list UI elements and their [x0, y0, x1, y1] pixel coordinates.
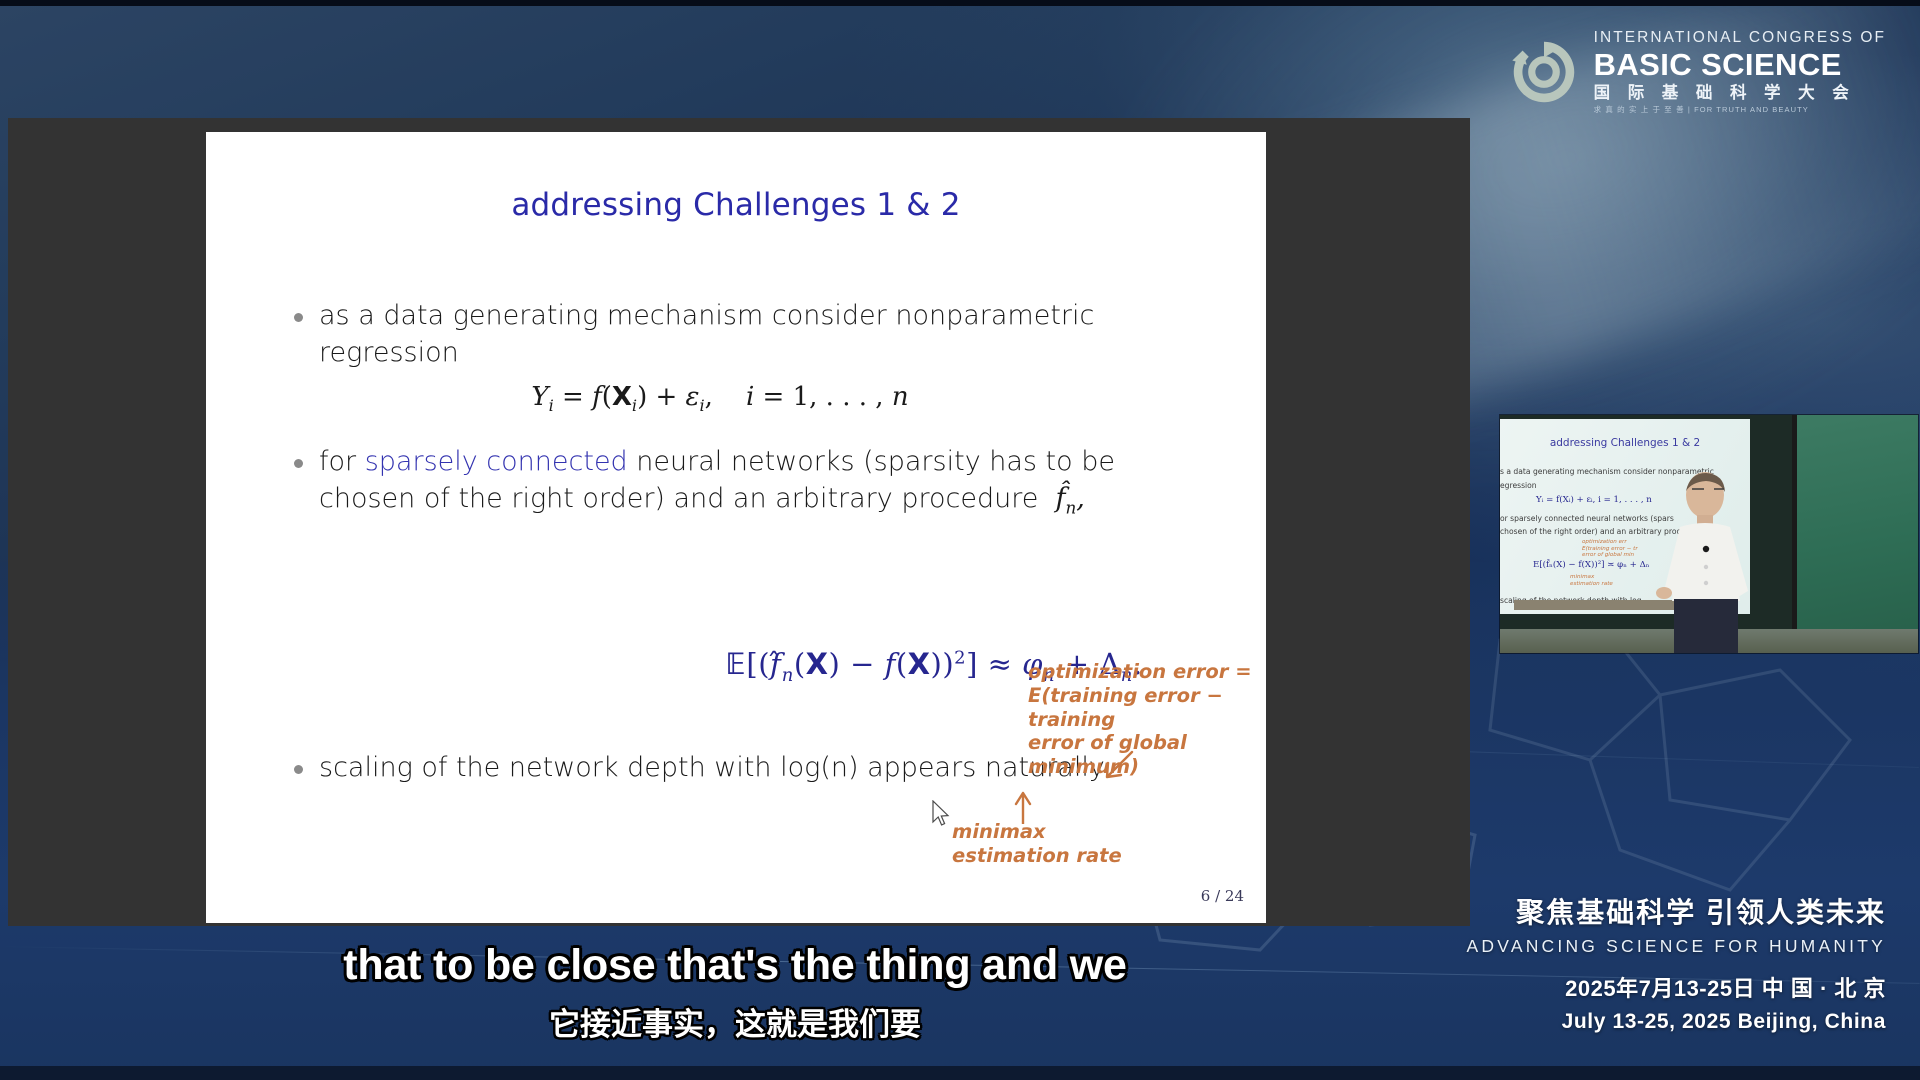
event-tagline-en: ADVANCING SCIENCE FOR HUMANITY — [1467, 936, 1886, 957]
pip-slide-equation-2: E[(f̂ₙ(X) − f(X))²] ≍ φₙ + Δₙ — [1533, 560, 1650, 570]
event-tagline-cn: 聚焦基础科学 引领人类未来 — [1467, 891, 1886, 931]
equation-regression: Yi = f(Xi) + εi, i = 1, . . . , n — [294, 382, 1226, 415]
event-date-cn: 2025年7月13-25日 中 国 · 北 京 — [1467, 971, 1886, 1003]
arrow-up-icon — [1012, 790, 1034, 829]
subtitle-english: that to be close that's the thing and we — [0, 941, 1470, 990]
congress-logo: INTERNATIONAL CONGRESS OF BASIC SCIENCE … — [1508, 30, 1886, 114]
logo-line-chinese: 国 际 基 础 科 学 大 会 — [1594, 85, 1886, 102]
list-item: for sparsely connected neural networks (… — [294, 443, 1226, 520]
annotation-optimization-error: optimization error = E(training error − … — [1028, 660, 1266, 779]
slide-page-number: 6 / 24 — [1201, 887, 1244, 905]
logo-line-international: INTERNATIONAL CONGRESS OF — [1594, 30, 1886, 46]
arrow-diagonal-icon — [1102, 750, 1136, 785]
logo-line-motto: 求 真 的 实 上 于 至 善 | FOR TRUTH AND BEAUTY — [1594, 106, 1886, 114]
pip-slide-annotation-2: minimax estimation rate — [1570, 574, 1613, 587]
pip-slide-equation-1: Yᵢ = f(Xᵢ) + εᵢ, i = 1, . . . , n — [1536, 495, 1652, 505]
chalkboard — [1792, 415, 1918, 653]
subtitle-overlay: that to be close that's the thing and we… — [0, 941, 1470, 1044]
annotation-minimax-rate: minimax estimation rate — [952, 820, 1122, 868]
background-bottom-edge — [0, 1066, 1920, 1080]
bullet-dot-icon — [294, 313, 303, 322]
speaker-figure — [1650, 471, 1768, 653]
background-top-edge — [0, 0, 1920, 6]
presentation-stream-screen: INTERNATIONAL CONGRESS OF BASIC SCIENCE … — [0, 0, 1920, 1080]
bullet-3-text: scaling of the network depth with log(n)… — [319, 752, 1105, 783]
pip-slide-title: addressing Challenges 1 & 2 — [1500, 437, 1750, 449]
circular-arrow-logo-icon — [1508, 36, 1580, 108]
event-branding: 聚焦基础科学 引领人类未来 ADVANCING SCIENCE FOR HUMA… — [1467, 891, 1886, 1034]
slide-title: addressing Challenges 1 & 2 — [206, 187, 1266, 223]
bullet-2-highlight: sparsely connected — [365, 446, 628, 477]
pip-slide-line-3: or sparsely connected neural networks (s… — [1500, 514, 1674, 523]
logo-line-basic-science: BASIC SCIENCE — [1594, 49, 1886, 80]
speaker-camera-feed[interactable]: addressing Challenges 1 & 2 s a data gen… — [1500, 415, 1918, 653]
slide-content: addressing Challenges 1 & 2 as a data ge… — [206, 132, 1266, 923]
bullet-2-text-before: for — [319, 446, 365, 477]
pip-slide-annotation-1: optimization err E(training error − tr e… — [1582, 539, 1638, 559]
pip-slide-line-2: egression — [1500, 481, 1537, 490]
bullet-dot-icon — [294, 765, 303, 774]
mouse-pointer-icon — [931, 800, 951, 833]
bullet-1-text: as a data generating mechanism consider … — [319, 300, 1094, 368]
bullet-dot-icon — [294, 459, 303, 468]
list-item: as a data generating mechanism consider … — [294, 297, 1226, 372]
event-date-en: July 13-25, 2025 Beijing, China — [1467, 1010, 1886, 1034]
subtitle-chinese: 它接近事实，这就是我们要 — [0, 999, 1470, 1044]
